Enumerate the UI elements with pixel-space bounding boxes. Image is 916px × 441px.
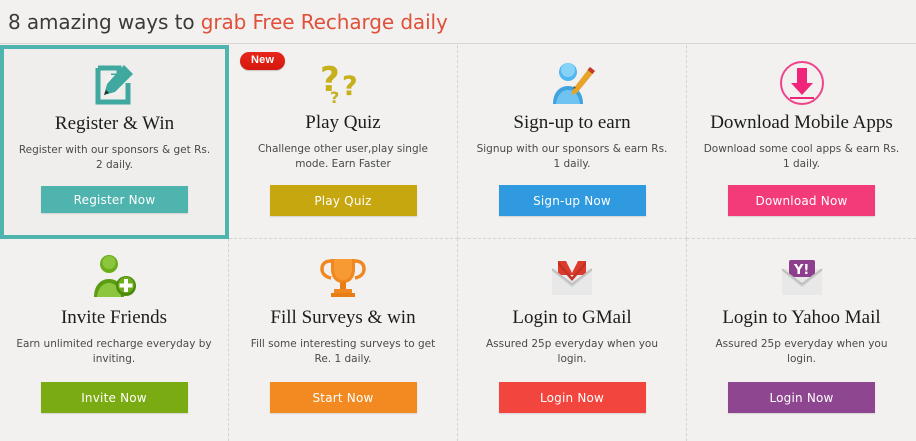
offer-description: Assured 25p everyday when you login. bbox=[704, 337, 900, 367]
yahoo-envelope-icon: Y! bbox=[778, 251, 826, 303]
offer-title: Play Quiz bbox=[305, 112, 380, 134]
offer-card-login-to-gmail[interactable]: Login to GMail Assured 25p everyday when… bbox=[458, 239, 687, 441]
offer-title: Sign-up to earn bbox=[513, 112, 630, 134]
gmail-envelope-icon bbox=[548, 251, 596, 303]
page-title-plain: 8 amazing ways to bbox=[8, 10, 201, 34]
offer-card-download-mobile-apps[interactable]: Download Mobile Apps Download some cool … bbox=[687, 45, 916, 239]
offer-card-sign-up-to-earn[interactable]: Sign-up to earn Signup with our sponsors… bbox=[458, 45, 687, 239]
page-title-accent: grab Free Recharge daily bbox=[201, 10, 448, 34]
document-pencil-icon bbox=[91, 61, 139, 109]
svg-text:?: ? bbox=[330, 88, 339, 107]
offer-action-button[interactable]: Login Now bbox=[728, 382, 875, 413]
offer-card-register-and-win[interactable]: Register & Win Register with our sponsor… bbox=[0, 45, 229, 239]
offer-card-login-to-yahoo-mail[interactable]: Y! Login to Yahoo Mail Assured 25p every… bbox=[687, 239, 916, 441]
trophy-icon bbox=[319, 251, 367, 303]
new-badge: New bbox=[240, 52, 285, 70]
offer-action-button[interactable]: Sign-up Now bbox=[499, 185, 646, 216]
offer-action-button[interactable]: Register Now bbox=[41, 186, 188, 213]
offer-description: Fill some interesting surveys to get Re.… bbox=[245, 337, 441, 367]
user-plus-icon bbox=[90, 251, 138, 303]
offer-title: Login to Yahoo Mail bbox=[722, 307, 880, 329]
offer-action-button[interactable]: Login Now bbox=[499, 382, 646, 413]
offer-title: Fill Surveys & win bbox=[270, 307, 415, 329]
page-title: 8 amazing ways to grab Free Recharge dai… bbox=[8, 10, 448, 34]
offer-title: Invite Friends bbox=[61, 307, 167, 329]
offer-description: Signup with our sponsors & earn Rs. 1 da… bbox=[474, 142, 670, 172]
svg-text:Y!: Y! bbox=[793, 263, 809, 278]
offer-title: Register & Win bbox=[55, 113, 174, 135]
offer-title: Login to GMail bbox=[512, 307, 631, 329]
offer-card-invite-friends[interactable]: Invite Friends Earn unlimited recharge e… bbox=[0, 239, 229, 441]
offer-action-button[interactable]: Start Now bbox=[270, 382, 417, 413]
recharge-offers-page: 8 amazing ways to grab Free Recharge dai… bbox=[0, 0, 916, 441]
question-marks-icon: ? ? ? bbox=[318, 57, 368, 108]
offer-title: Download Mobile Apps bbox=[710, 112, 893, 134]
page-header: 8 amazing ways to grab Free Recharge dai… bbox=[0, 0, 916, 44]
offer-description: Earn unlimited recharge everyday by invi… bbox=[16, 337, 212, 367]
offer-description: Download some cool apps & earn Rs. 1 dai… bbox=[704, 142, 900, 172]
offer-action-button[interactable]: Play Quiz bbox=[270, 185, 417, 216]
download-circle-icon bbox=[778, 57, 826, 108]
offer-card-play-quiz[interactable]: New ? ? ? Play Quiz Challenge other user… bbox=[229, 45, 458, 239]
offer-card-fill-surveys-and-win[interactable]: Fill Surveys & win Fill some interesting… bbox=[229, 239, 458, 441]
offer-description: Assured 25p everyday when you login. bbox=[474, 337, 670, 367]
offer-action-button[interactable]: Download Now bbox=[728, 185, 875, 216]
svg-text:?: ? bbox=[342, 71, 358, 102]
offer-action-button[interactable]: Invite Now bbox=[41, 382, 188, 413]
offer-description: Challenge other user,play single mode. E… bbox=[245, 142, 441, 172]
user-pencil-icon bbox=[548, 57, 596, 108]
offers-grid: Register & Win Register with our sponsor… bbox=[0, 45, 916, 441]
offer-description: Register with our sponsors & get Rs. 2 d… bbox=[17, 143, 213, 173]
